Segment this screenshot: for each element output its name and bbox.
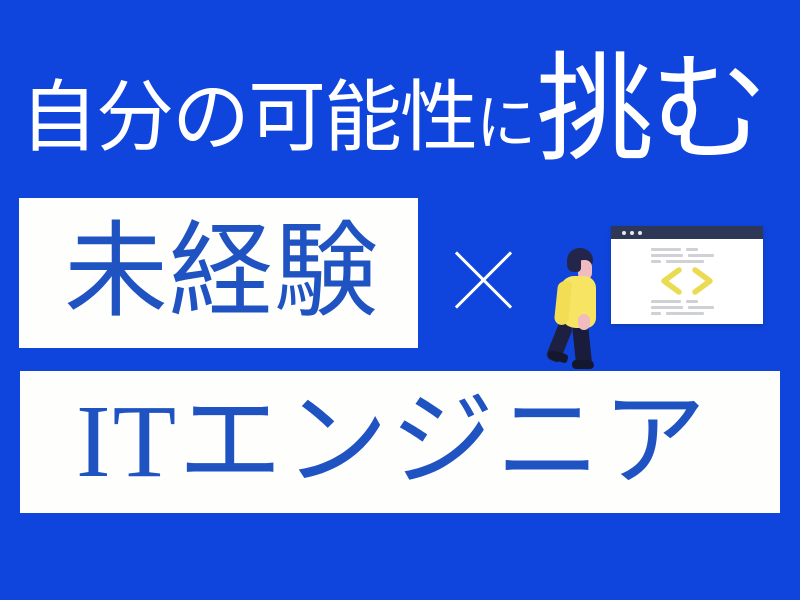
code-bar — [666, 312, 704, 315]
code-line-row — [651, 254, 749, 257]
code-window-illustration: <> — [611, 226, 763, 324]
window-dot-icon — [638, 231, 642, 235]
page-title: 自分の可能性 に 挑む — [20, 52, 790, 172]
code-bar — [651, 260, 661, 263]
code-bar — [651, 254, 683, 257]
keyword-box-it-engineer: ITエンジニア — [20, 371, 780, 513]
code-bar — [651, 312, 661, 315]
headline-emphasis: 挑む — [536, 52, 764, 170]
headline-particle: に — [476, 94, 534, 154]
code-line-row — [651, 260, 749, 263]
code-line-row — [651, 248, 749, 251]
code-bar — [651, 248, 681, 251]
cross-icon: × — [443, 241, 521, 319]
code-bar — [666, 260, 704, 263]
recruitment-banner: 自分の可能性 に 挑む 未経験 × — [0, 0, 800, 600]
code-lines-top — [625, 248, 749, 263]
keyword-label-top: 未経験 — [58, 221, 379, 325]
person-shoe-back — [547, 349, 569, 363]
code-brackets-icon: <> — [625, 266, 749, 296]
code-line-row — [651, 306, 749, 309]
code-window-titlebar — [611, 226, 763, 239]
code-window-body: <> — [611, 239, 763, 324]
person-shoe-front — [572, 360, 594, 369]
code-bar — [651, 300, 681, 303]
code-lines-bottom — [625, 300, 749, 315]
window-dot-icon — [630, 231, 634, 235]
code-bar — [688, 254, 714, 257]
code-line-row — [651, 300, 749, 303]
headline-lead: 自分の可能性 — [20, 79, 476, 157]
code-bar — [651, 306, 683, 309]
code-bar — [686, 300, 698, 303]
code-line-row — [651, 312, 749, 315]
keyword-label-bottom: ITエンジニア — [76, 390, 708, 494]
keyword-box-inexperienced: 未経験 — [19, 198, 418, 348]
code-bar — [688, 306, 714, 309]
person-hand — [578, 314, 590, 330]
walking-person-illustration — [548, 248, 610, 370]
code-bar — [686, 248, 698, 251]
window-dot-icon — [622, 231, 626, 235]
person-hair-front — [567, 256, 581, 272]
